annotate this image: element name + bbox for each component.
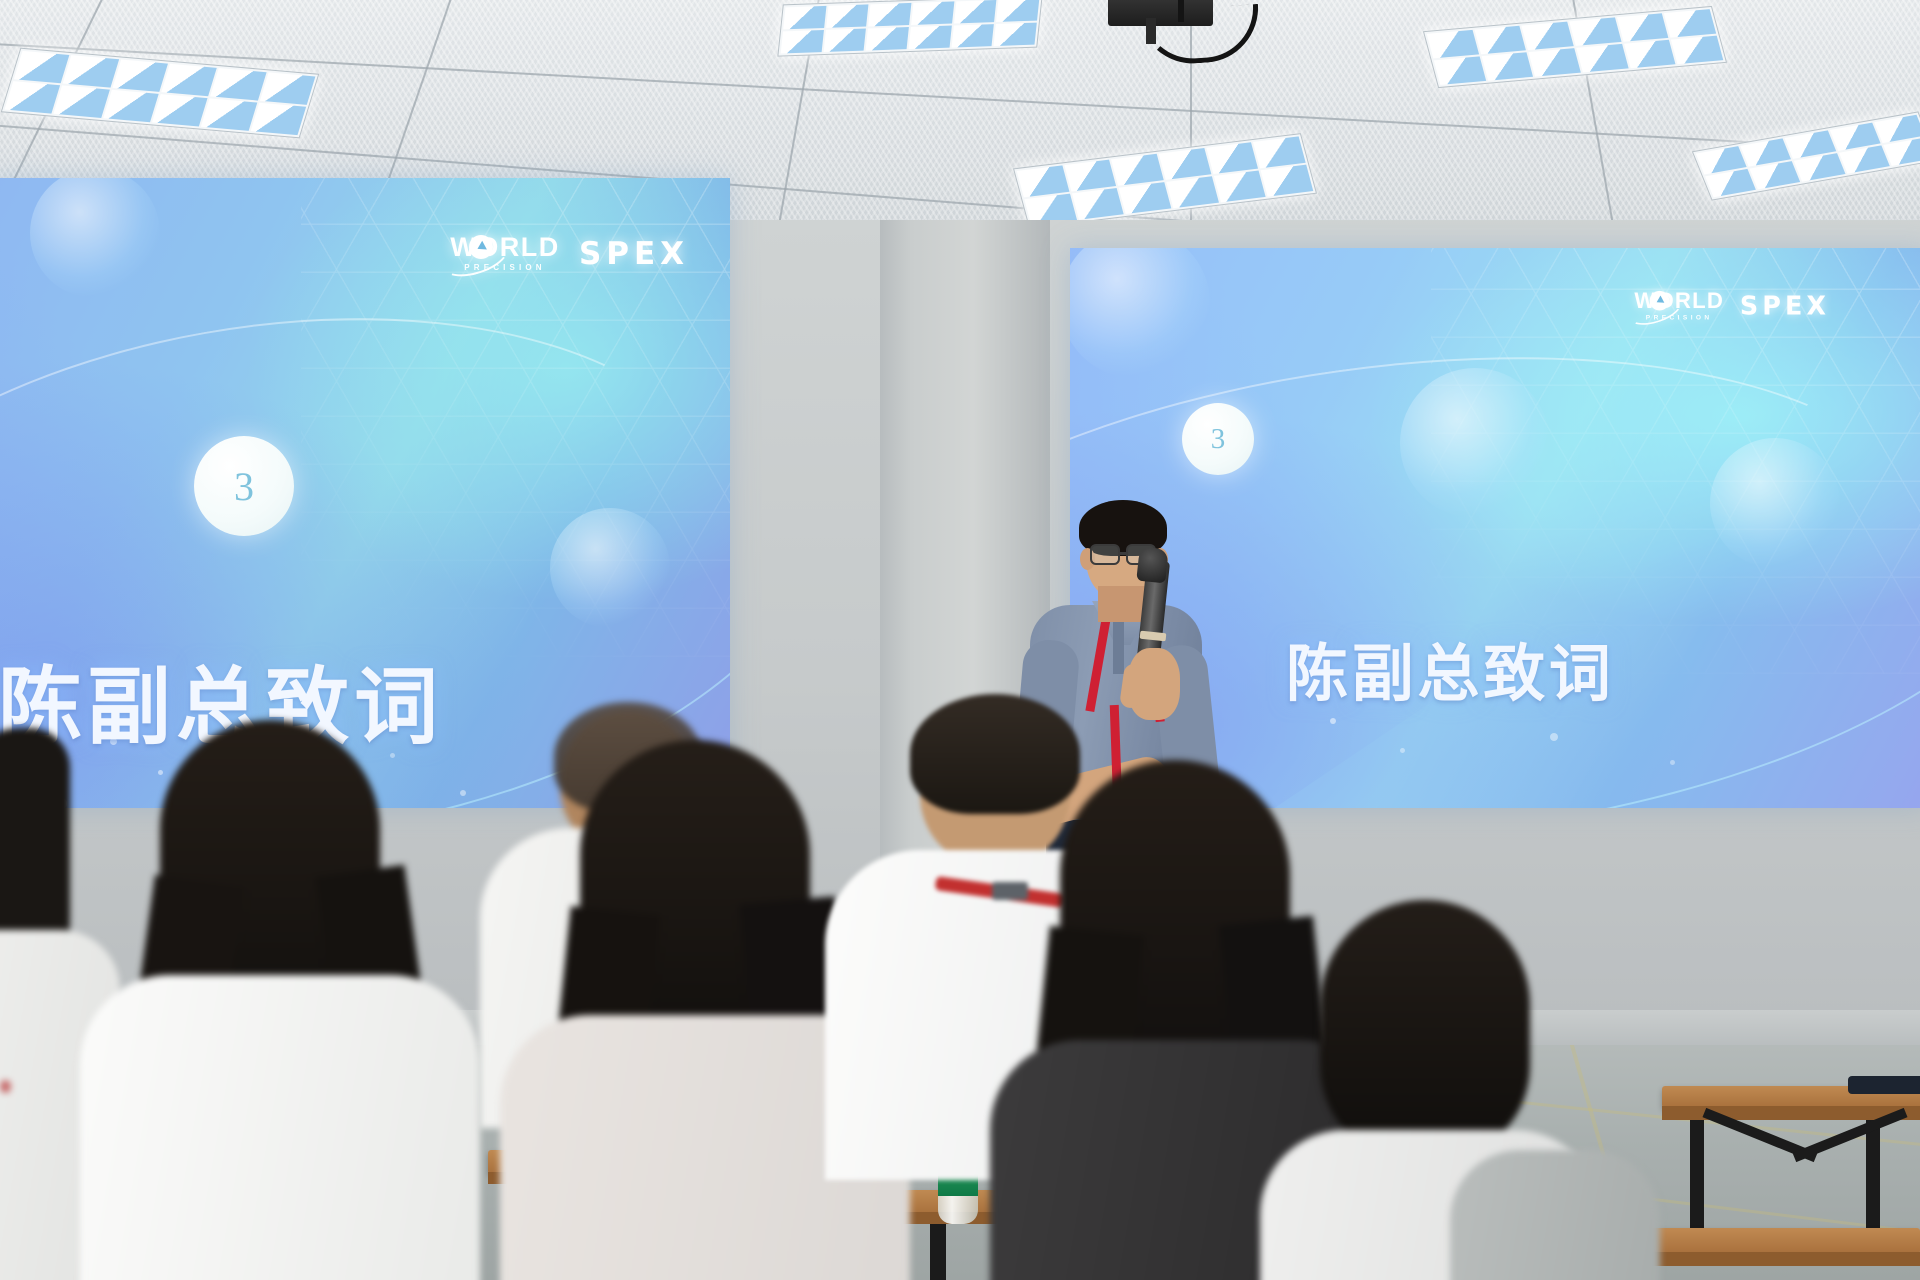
slide-step-circle-left: 3 <box>194 436 294 536</box>
logo-precision-text: PRECISION <box>464 264 545 272</box>
audience-lanyard-clip <box>992 882 1028 900</box>
slide-logo-right: WORLD PRECISION SPEX <box>1630 290 1830 323</box>
globe-icon <box>469 235 493 259</box>
eyeglasses-bridge <box>1120 552 1128 555</box>
audience-hair <box>1320 900 1530 1150</box>
bokeh-particle <box>1670 760 1675 765</box>
screenshot-stage: WORLD PRECISION SPEX 3 陈副总致词 <box>0 0 1920 1280</box>
bokeh-particle <box>1550 733 1558 741</box>
world-precision-logo: WORLD PRECISION <box>445 234 565 274</box>
glow-orb <box>550 508 670 628</box>
audience-torso <box>1450 1150 1660 1280</box>
microphone-capsule <box>1136 547 1168 584</box>
bokeh-particle <box>158 770 163 775</box>
slide-title-right: 陈副总致词 <box>1286 623 1615 713</box>
world-precision-logo: WORLD PRECISION <box>1630 290 1728 323</box>
slide-step-number: 3 <box>234 463 254 510</box>
arrow-icon <box>1655 296 1665 306</box>
spex-logo-text: SPEX <box>1740 292 1830 322</box>
slide-logo-left: WORLD PRECISION SPEX <box>445 234 689 274</box>
globe-icon <box>1650 291 1670 311</box>
ceiling-light-fixture <box>777 0 1042 57</box>
bokeh-particle <box>1400 748 1405 753</box>
spex-logo-text: SPEX <box>579 236 689 272</box>
speaker-shirt-placket <box>1113 620 1124 674</box>
speaker-neck <box>1098 586 1146 622</box>
logo-precision-text: PRECISION <box>1646 315 1713 322</box>
glow-orb <box>1710 438 1840 568</box>
arrow-icon <box>475 241 487 254</box>
bokeh-particle <box>1330 718 1336 724</box>
smartphone-on-table[interactable] <box>1848 1076 1920 1094</box>
glow-orb <box>1400 368 1550 518</box>
audience-hair <box>910 694 1080 814</box>
audience-torso <box>80 975 480 1280</box>
slide-step-circle-right: 3 <box>1182 403 1254 475</box>
table-center-leg <box>930 1224 946 1280</box>
bokeh-particle <box>460 790 466 796</box>
eyeglasses-left-lens <box>1090 544 1120 565</box>
blouse-floral-dot <box>0 1080 11 1093</box>
slide-step-number: 3 <box>1211 423 1226 456</box>
